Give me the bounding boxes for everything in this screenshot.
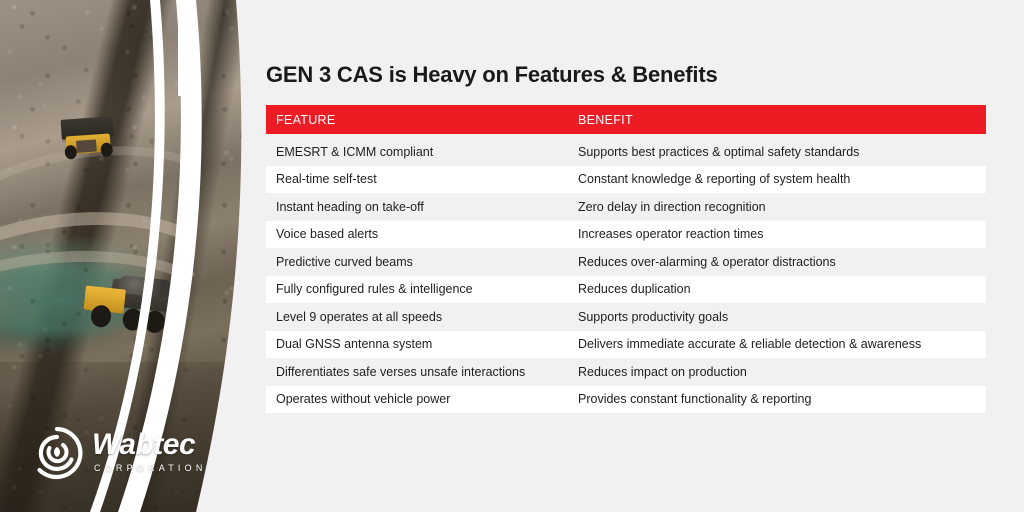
wabtec-subtitle: CORPORATION [94,464,207,473]
table-row: Fully configured rules & intelligenceRed… [266,276,986,304]
cell-benefit: Reduces duplication [578,282,986,296]
haul-truck-upper [61,116,116,164]
column-header-benefit: BENEFIT [578,113,986,127]
cell-feature: Level 9 operates at all speeds [266,310,578,324]
table-row: Level 9 operates at all speedsSupports p… [266,303,986,331]
truck-tyre [100,142,113,157]
cell-benefit: Supports best practices & optimal safety… [578,145,986,159]
table-row: Predictive curved beamsReduces over-alar… [266,248,986,276]
table-row: Real-time self-testConstant knowledge & … [266,166,986,194]
cell-benefit: Supports productivity goals [578,310,986,324]
table-row: Dual GNSS antenna systemDelivers immedia… [266,331,986,359]
table-row: Differentiates safe verses unsafe intera… [266,358,986,386]
cell-benefit: Provides constant functionality & report… [578,392,986,406]
truck-tyre [64,145,77,160]
table-row: Instant heading on take-offZero delay in… [266,193,986,221]
cell-feature: Real-time self-test [266,172,578,186]
slide: Wabtec CORPORATION GEN 3 CAS is Heavy on… [0,0,1024,512]
cell-benefit: Constant knowledge & reporting of system… [578,172,986,186]
table-row: EMESRT & ICMM compliantSupports best pra… [266,138,986,166]
cell-feature: Dual GNSS antenna system [266,337,578,351]
cell-benefit: Reduces over-alarming & operator distrac… [578,255,986,269]
column-header-feature: FEATURE [266,113,578,127]
table-header-row: FEATURE BENEFIT [266,105,986,134]
wabtec-wordmark: Wabtec [92,430,195,460]
cell-benefit: Zero delay in direction recognition [578,200,986,214]
cell-feature: Voice based alerts [266,227,578,241]
content-area: GEN 3 CAS is Heavy on Features & Benefit… [264,0,1024,512]
truck-grille [76,139,97,152]
table-row: Operates without vehicle powerProvides c… [266,386,986,414]
cell-feature: Predictive curved beams [266,255,578,269]
features-benefits-table: FEATURE BENEFIT EMESRT & ICMM compliantS… [266,105,986,413]
cell-benefit: Increases operator reaction times [578,227,986,241]
haul-truck-loaded-lower [81,276,174,341]
cell-feature: Instant heading on take-off [266,200,578,214]
wabtec-logo: Wabtec CORPORATION [30,424,220,486]
cell-feature: EMESRT & ICMM compliant [266,145,578,159]
page-title: GEN 3 CAS is Heavy on Features & Benefit… [266,62,718,88]
cell-benefit: Reduces impact on production [578,365,986,379]
cell-feature: Fully configured rules & intelligence [266,282,578,296]
wabtec-swirl-icon [30,426,84,480]
truck-tyre [144,310,166,334]
cell-benefit: Delivers immediate accurate & reliable d… [578,337,986,351]
cell-feature: Operates without vehicle power [266,392,578,406]
table-row: Voice based alertsIncreases operator rea… [266,221,986,249]
truck-tyre [122,308,144,332]
cell-feature: Differentiates safe verses unsafe intera… [266,365,578,379]
